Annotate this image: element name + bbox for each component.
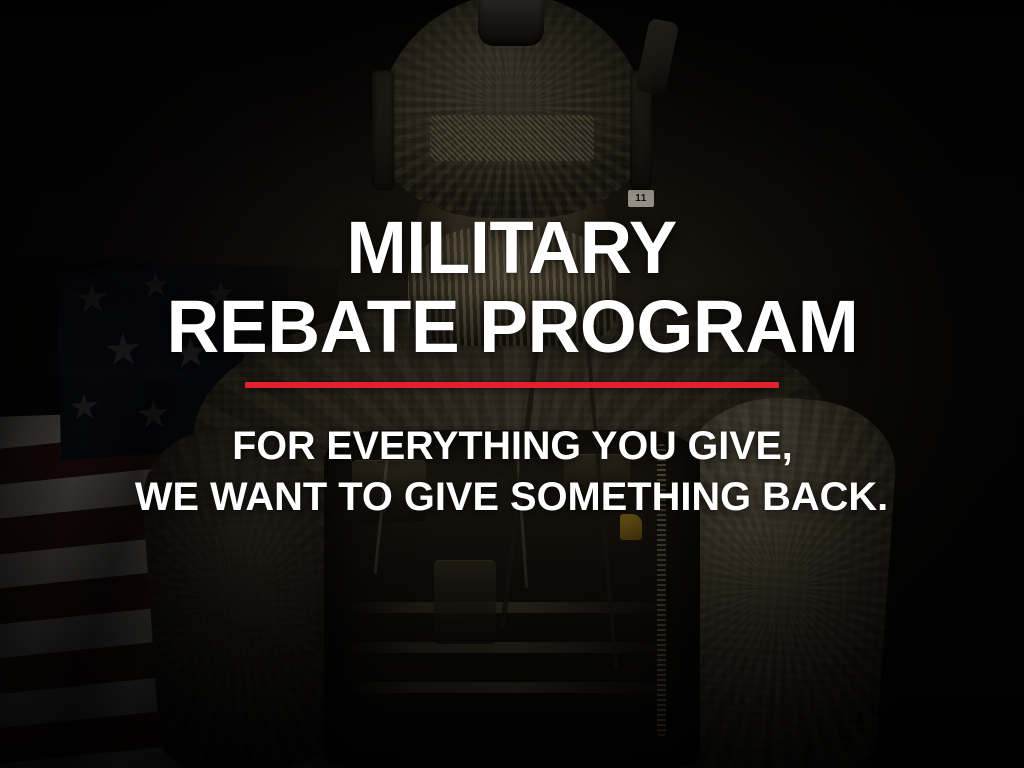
red-divider-rule (245, 382, 779, 388)
subheadline-line-1: FOR EVERYTHING YOU GIVE, (232, 426, 792, 467)
subheadline-line-2: WE WANT TO GIVE SOMETHING BACK. (135, 477, 888, 518)
military-rebate-poster: ★ ★ ★ ★ ★ ★ ★ ★ ★ (0, 0, 1024, 768)
headline-line-1: MILITARY (347, 212, 677, 283)
headline-line-2: REBATE PROGRAM (166, 291, 858, 362)
poster-content: MILITARY REBATE PROGRAM FOR EVERYTHING Y… (0, 0, 1024, 768)
